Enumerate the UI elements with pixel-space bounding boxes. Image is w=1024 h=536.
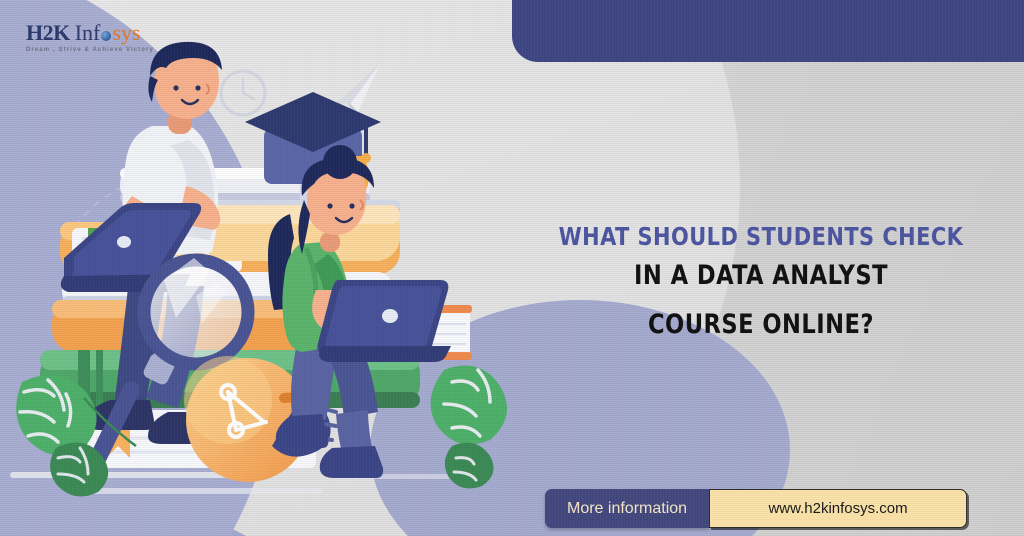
monstera-leaf-right bbox=[431, 366, 507, 445]
logo-h2k-text: H2K bbox=[26, 20, 70, 45]
logo-wordmark: H2KInfsys bbox=[26, 22, 196, 44]
laptop-base bbox=[319, 346, 451, 362]
headline-line-1: WHAT SHOULD STUDENTS CHECK bbox=[537, 218, 985, 256]
promo-banner: H2KInfsys Dream , Strive & Achieve Victo… bbox=[0, 0, 1024, 536]
globe-icon bbox=[101, 31, 111, 41]
top-right-blue-bar bbox=[512, 0, 1024, 62]
company-logo[interactable]: H2KInfsys Dream , Strive & Achieve Victo… bbox=[26, 22, 196, 53]
logo-tagline: Dream , Strive & Achieve Victory bbox=[26, 47, 196, 53]
headline-line-3: COURSE ONLINE? bbox=[537, 305, 985, 346]
headline-line-2: IN A DATA ANALYST bbox=[537, 256, 985, 297]
headline-block: WHAT SHOULD STUDENTS CHECK IN A DATA ANA… bbox=[520, 218, 1002, 346]
more-information-button[interactable]: More information bbox=[545, 489, 709, 528]
logo-sys-text: sys bbox=[112, 20, 140, 45]
monstera-leaf-small-right bbox=[445, 443, 494, 489]
students-illustration bbox=[0, 0, 520, 536]
website-url-link[interactable]: www.h2kinfosys.com bbox=[709, 489, 967, 528]
cta-bar: More information www.h2kinfosys.com bbox=[545, 489, 967, 528]
wall-clock-icon bbox=[221, 71, 265, 115]
logo-info-text: Inf bbox=[75, 20, 101, 45]
